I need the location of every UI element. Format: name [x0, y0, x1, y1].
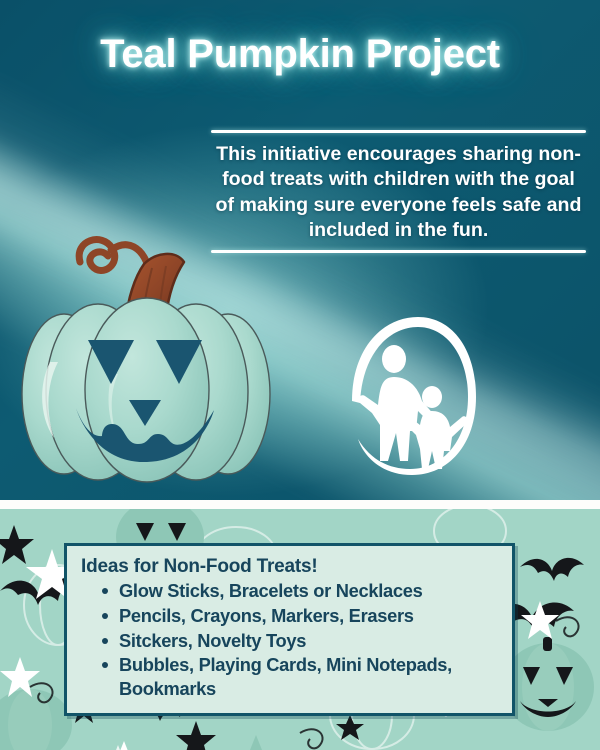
list-item: Sitckers, Novelty Toys — [101, 629, 498, 653]
list-item: Bubbles, Playing Cards, Mini Notepads, B… — [101, 653, 498, 701]
list-item: Pencils, Crayons, Markers, Erasers — [101, 604, 498, 628]
page-title: Teal Pumpkin Project — [0, 32, 600, 77]
blurb-block: This initiative encourages sharing non-f… — [211, 130, 586, 253]
ideas-card-heading: Ideas for Non-Food Treats! — [81, 556, 498, 578]
divider-rule-bottom — [211, 250, 586, 253]
blurb-text: This initiative encourages sharing non-f… — [211, 133, 586, 250]
adult-and-child-icon — [330, 305, 490, 485]
pumpkin-icon — [16, 222, 278, 490]
list-item: Glow Sticks, Bracelets or Necklaces — [101, 579, 498, 603]
teal-pumpkin-project-poster: Teal Pumpkin Project This initiative enc… — [0, 0, 600, 750]
ideas-card: Ideas for Non-Food Treats! Glow Sticks, … — [64, 543, 515, 716]
section-divider — [0, 500, 600, 509]
ideas-list: Glow Sticks, Bracelets or Necklaces Penc… — [81, 579, 498, 701]
hero-section: Teal Pumpkin Project This initiative enc… — [0, 0, 600, 500]
